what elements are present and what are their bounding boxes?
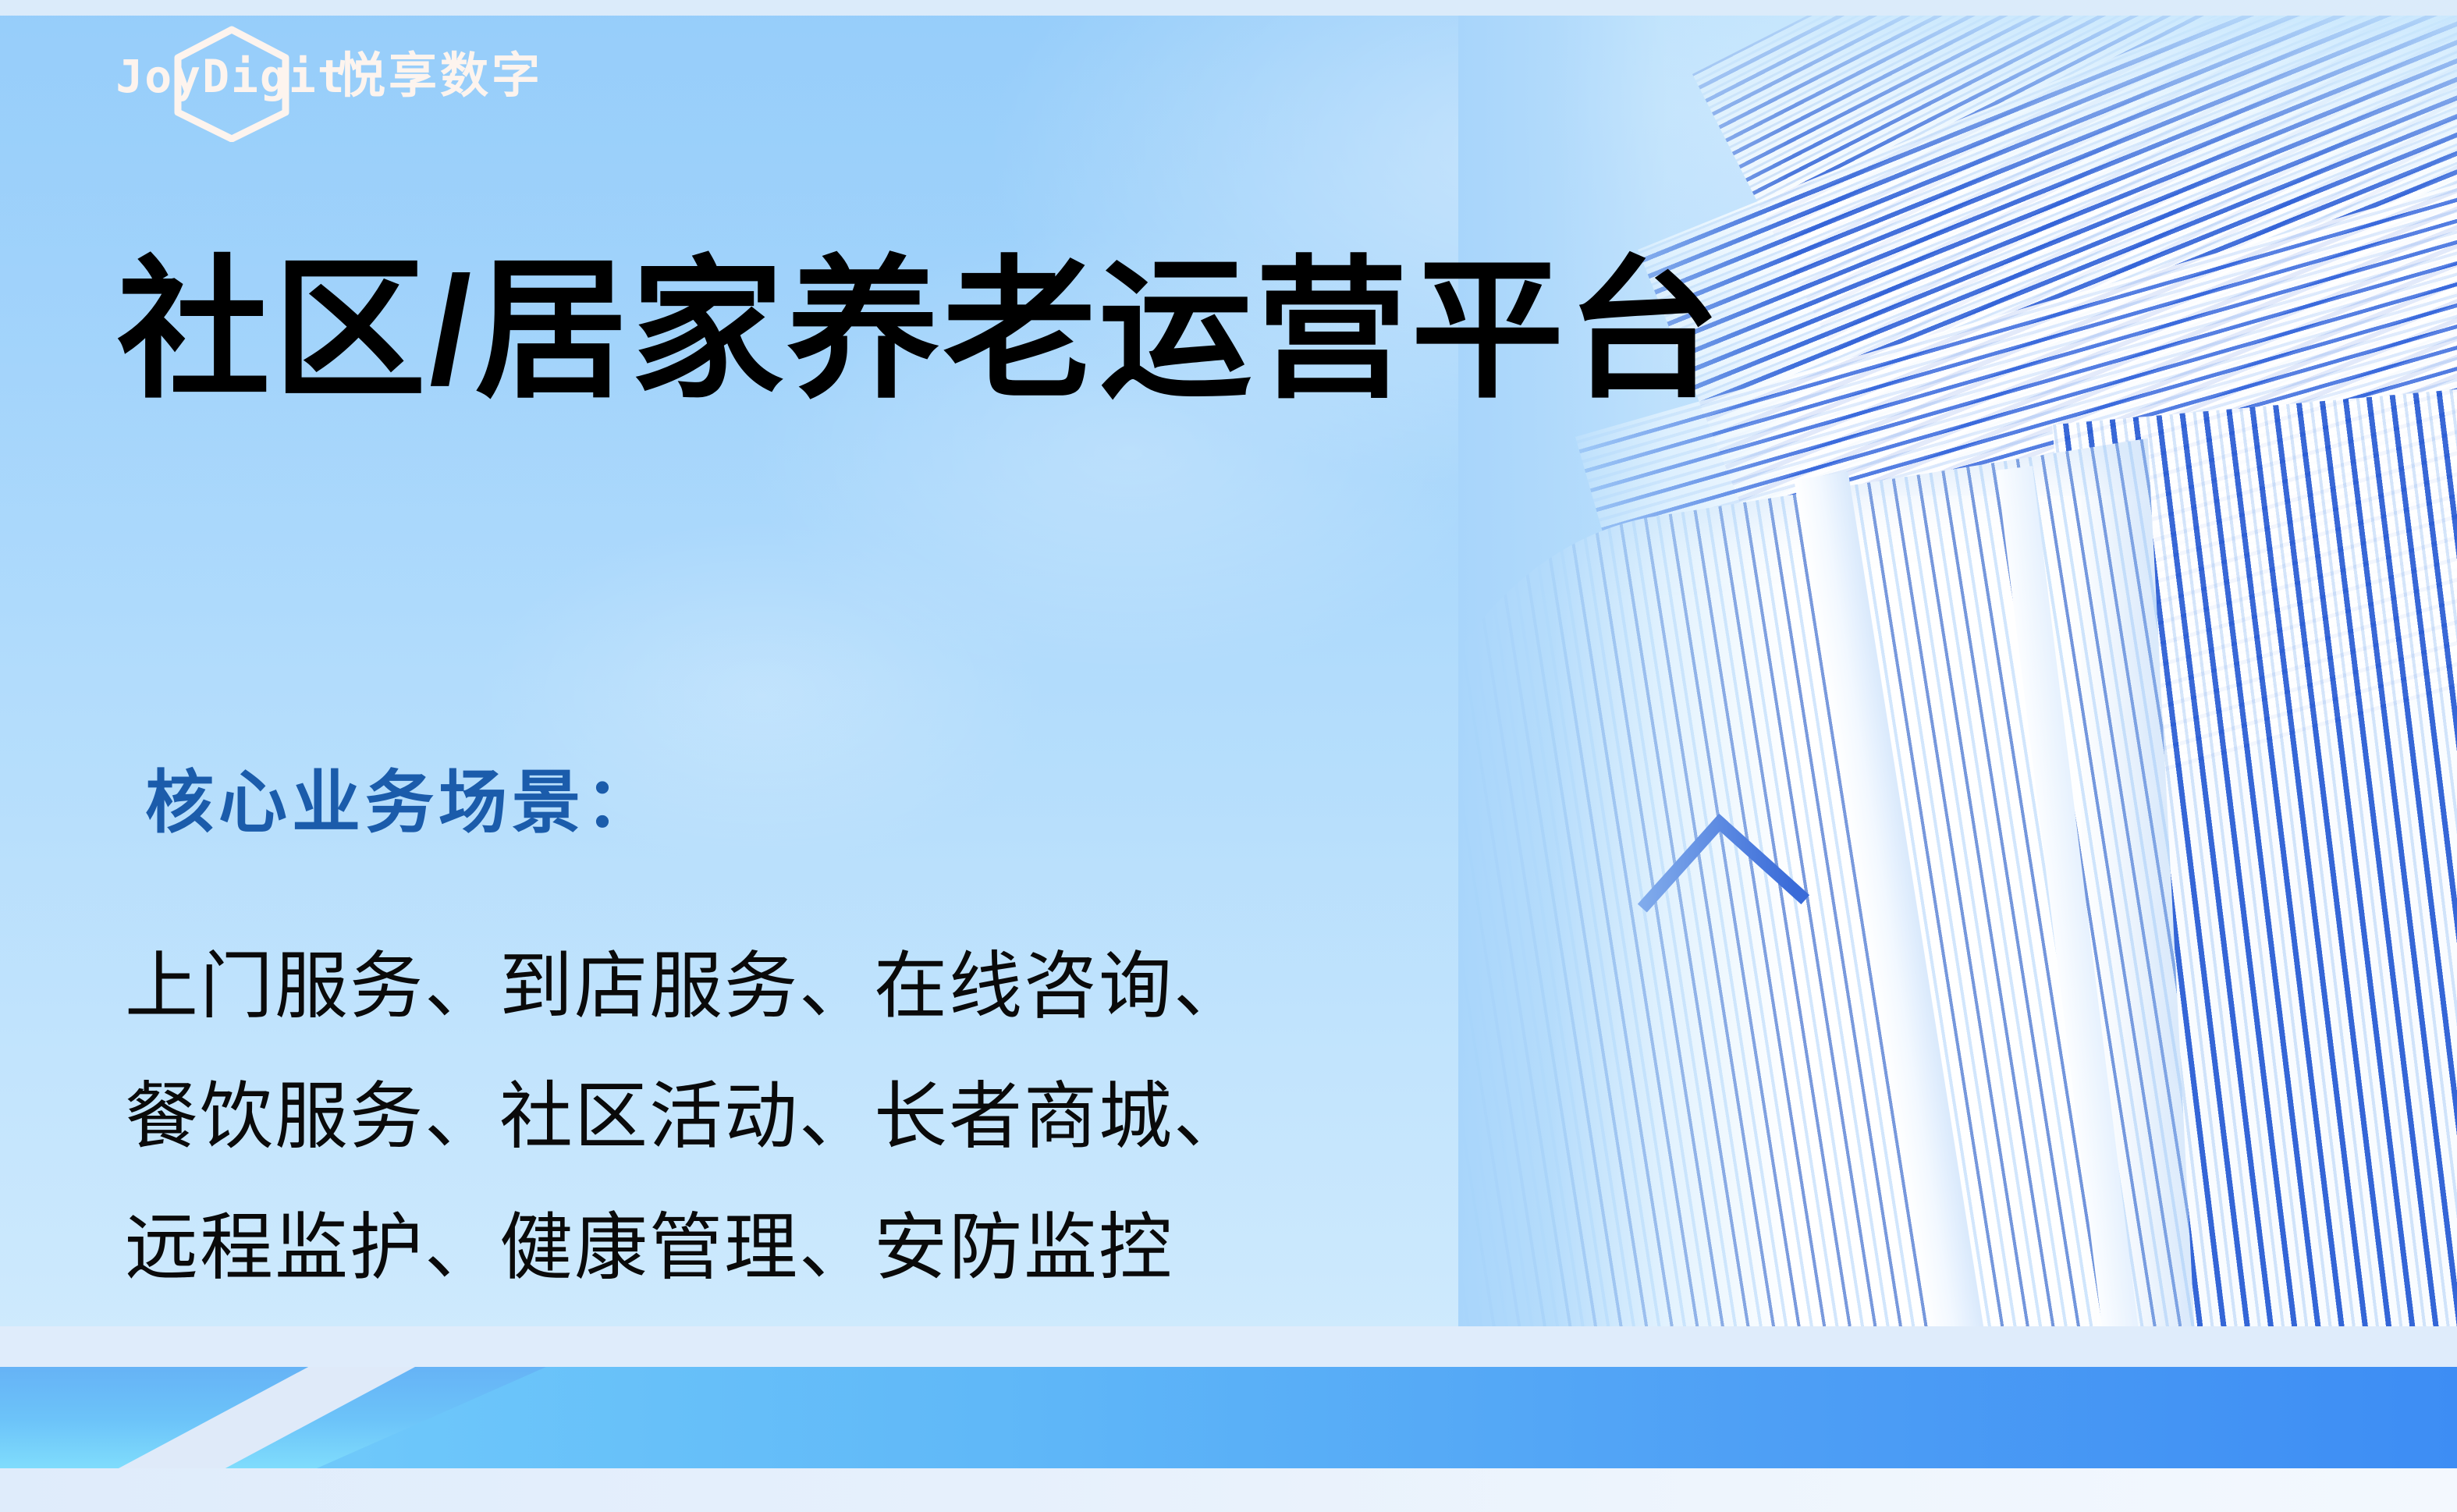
section-heading: 核心业务场景： — [145, 768, 659, 837]
scenario-list: 上门服务、到店服务、在线咨询、 餐饮服务、社区活动、长者商城、 远程监护、健康管… — [125, 921, 1248, 1312]
skyscraper-photo — [1458, 0, 2457, 1397]
bottom-decorative-band — [0, 1326, 2457, 1512]
logo-mark: JoyDigit — [139, 30, 323, 123]
scenario-line-3: 远程监护、健康管理、安防监控 — [125, 1182, 1248, 1312]
scenario-line-2: 餐饮服务、社区活动、长者商城、 — [125, 1051, 1248, 1181]
slide-canvas: JoyDigit 悦享数字 社区/居家养老运营平台 核心业务场景： 上门服务、到… — [0, 0, 2457, 1512]
top-edge-strip — [0, 0, 2457, 16]
page-title: 社区/居家养老运营平台 — [117, 254, 1723, 407]
photo-left-fade — [1458, 0, 1794, 1397]
logo-wordmark: JoyDigit — [115, 54, 346, 99]
logo-chinese-name: 悦享数字 — [337, 52, 543, 101]
band-bottom-fade — [0, 1468, 2457, 1512]
scenario-line-1: 上门服务、到店服务、在线咨询、 — [125, 921, 1248, 1051]
brand-logo[interactable]: JoyDigit 悦享数字 — [139, 30, 543, 123]
